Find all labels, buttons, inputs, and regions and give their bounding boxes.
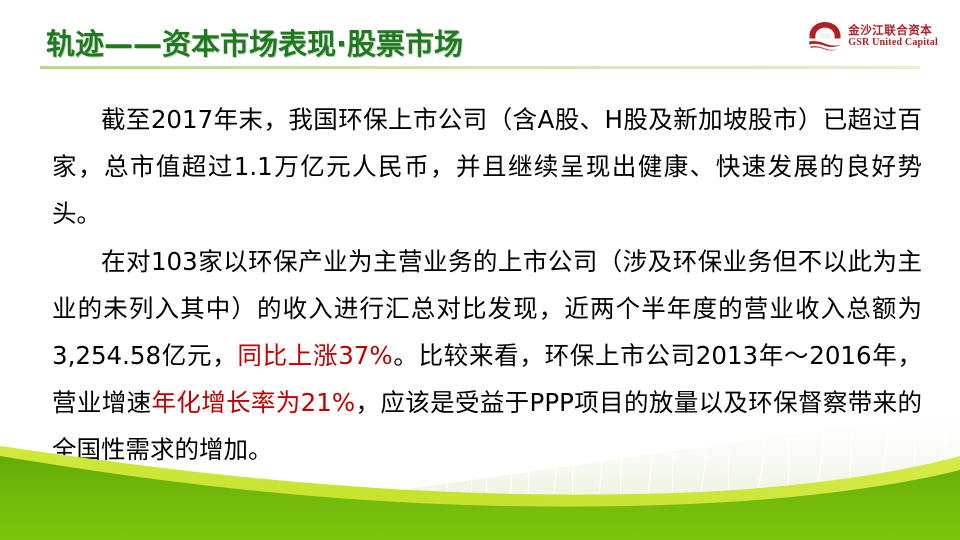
logo-wordmark: 金沙江联合资本 GSR United Capital <box>848 24 938 49</box>
paragraph-2-highlight-1: 同比上涨37% <box>237 341 392 370</box>
brand-logo: 金沙江联合资本 GSR United Capital <box>808 18 938 54</box>
paragraph-2-highlight-2: 年化增长率为21% <box>151 388 355 417</box>
logo-name-en: GSR United Capital <box>848 37 938 49</box>
paragraph-1: 截至2017年末，我国环保上市公司（含A股、H股及新加坡股市）已超过百家，总市值… <box>52 96 922 237</box>
slide-header: 轨迹——资本市场表现·股票市场 金沙江联合资本 GSR United Capit… <box>0 0 960 72</box>
paragraph-1-text: 截至2017年末，我国环保上市公司（含A股、H股及新加坡股市）已超过百家，总市值… <box>52 105 922 228</box>
slide: 轨迹——资本市场表现·股票市场 金沙江联合资本 GSR United Capit… <box>0 0 960 540</box>
page-title: 轨迹——资本市场表现·股票市场 <box>46 21 463 63</box>
logo-name-cn: 金沙江联合资本 <box>848 24 938 37</box>
title-underline-rule <box>40 66 920 69</box>
gsr-arch-wave-mark <box>808 20 842 52</box>
paragraph-2: 在对103家以环保产业为主营业务的上市公司（涉及环保业务但不以此为主业的未列入其… <box>52 238 922 473</box>
slide-body: 截至2017年末，我国环保上市公司（含A股、H股及新加坡股市）已超过百家，总市值… <box>52 96 922 474</box>
